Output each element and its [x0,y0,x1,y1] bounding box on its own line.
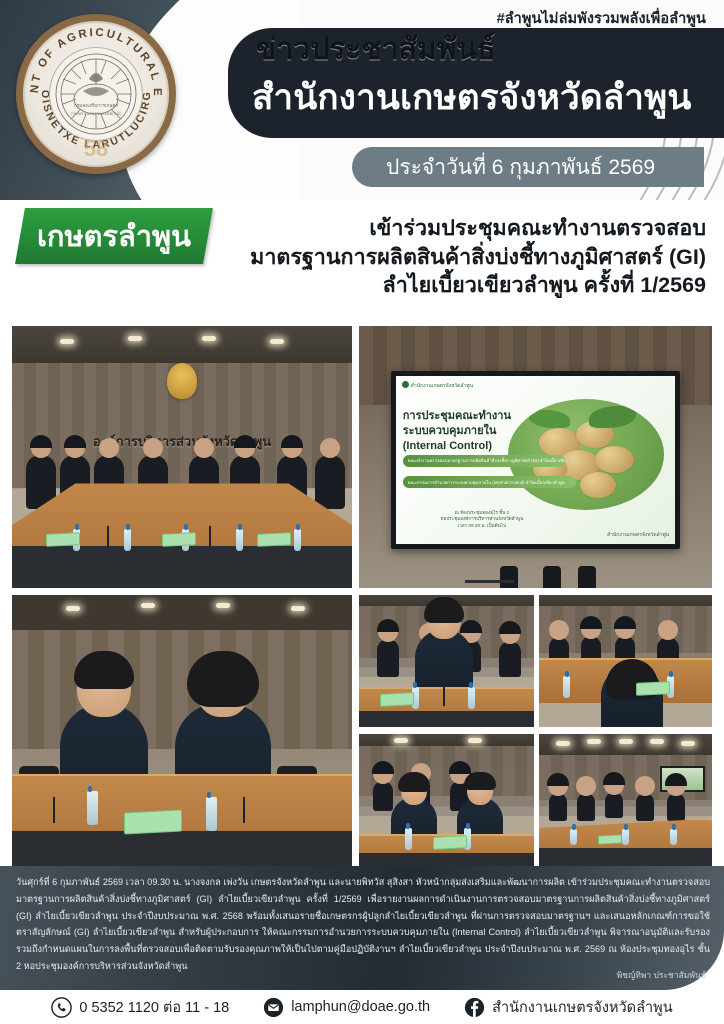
page-title: เข้าร่วมประชุมคณะทำงานตรวจสอบ มาตรฐานการ… [216,214,706,300]
photo-room-overview [539,734,712,866]
contact-email[interactable]: lamphun@doae.go.th [263,997,430,1018]
date-label: ประจำวันที่ 6 กุมภาพันธ์ 2569 [386,151,655,184]
contact-facebook[interactable]: สำนักงานเกษตรจังหวัดลำพูน [464,996,673,1019]
publisher-signature: พิชญ์ทิพา ประชาสัมพันธ์ [617,968,706,982]
contact-phone[interactable]: 0 5352 1120 ต่อ 11 - 18 [51,996,229,1019]
phone-icon [51,997,72,1018]
email-address: lamphun@doae.go.th [291,999,430,1015]
green-badge-kaset-lamphun: เกษตรลำพูน [15,208,213,264]
slide-title-line-1: การประชุมคณะทำงาน [403,409,511,424]
seal-inner-thai-text: กรมส่งเสริมการเกษตร [74,103,118,108]
headline-line-3: ลำไยเบี้ยวเขียวลำพูน ครั้งที่ 1/2569 [216,271,706,300]
phone-number: 0 5352 1120 ต่อ 11 - 18 [79,996,229,1019]
slide-footer-line-3: เวลา 09.30 น. เป็นต้นไป [440,523,523,530]
facebook-page-name: สำนักงานเกษตรจังหวัดลำพูน [492,996,673,1019]
photo-meeting-room-wide: องค์การบริหารส่วนจังหวัดลำพูน [12,326,352,588]
slide-logo-label: สำนักงานเกษตรจังหวัดลำพูน [402,381,473,390]
press-release-kicker: ข่าวประชาสัมพันธ์ [256,26,495,73]
photo-speaker-woman [359,595,534,727]
photo-attendees-seated [359,734,534,866]
agricultural-extension-seal-logo: DEPARTMENT OF AGRICULTURAL EXTENSION NOI… [16,14,176,174]
date-pill: ประจำวันที่ 6 กุมภาพันธ์ 2569 [352,147,704,187]
slide-bar-2: คณะกรรมการอำนวยการระบบควบคุมภายใน (Inter… [403,476,576,488]
header-banner: DEPARTMENT OF AGRICULTURAL EXTENSION NOI… [0,0,724,200]
projector-screen: สำนักงานเกษตรจังหวัดลำพูน การประชุมคณะทำ… [391,371,680,549]
body-text-panel: วันศุกร์ที่ 6 กุมภาพันธ์ 2569 เวลา 09.30… [0,866,724,990]
title-section: เกษตรลำพูน เข้าร่วมประชุมคณะทำงานตรวจสอบ… [0,200,724,325]
presentation-slide: สำนักงานเกษตรจังหวัดลำพูน การประชุมคณะทำ… [396,376,675,544]
hashtag-slogan: #ลำพูนไม่ล่มพังรวมพลังเพื่อลำพูน [497,7,706,30]
slide-title-line-2: ระบบควบคุมภายใน [403,424,511,439]
headline-line-2: มาตรฐานการผลิตสินค้าสิ่งบ่งชี้ทางภูมิศาส… [216,243,706,272]
office-name-title: สำนักงานเกษตรจังหวัดลำพูน [252,70,692,125]
photo-gallery: องค์การบริหารส่วนจังหวัดลำพูน [12,326,712,866]
slide-bar-1: คณะทำงานตรวจสอบมาตรฐานการผลิตสินค้าสิ่งบ… [403,455,565,467]
seal-inner-emblem: กรมส่งเสริมการเกษตร กระทรวงเกษตรและสหกรณ… [49,47,143,141]
slide-footer-text: ณ ห้องประชุมทองอุไร ชั้น 2 หอประชุมองค์ก… [440,510,523,531]
facebook-icon [464,997,485,1018]
svg-text:กระทรวงเกษตรและสหกรณ์: กระทรวงเกษตรและสหกรณ์ [71,111,121,116]
photo-projector-slide: สำนักงานเกษตรจังหวัดลำพูน การประชุมคณะทำ… [359,326,712,588]
seal-anniversary-number: 58 [84,136,108,162]
news-body-paragraph: วันศุกร์ที่ 6 กุมภาพันธ์ 2569 เวลา 09.30… [16,874,710,975]
slide-signature: สำนักงานเกษตรจังหวัดลำพูน [607,531,669,539]
footer-contact-bar: 0 5352 1120 ต่อ 11 - 18 lamphun@doae.go.… [0,990,724,1024]
provincial-emblem-icon [167,363,197,399]
photo-panel-table [539,595,712,727]
photo-two-officers-portrait [12,595,352,866]
slide-title: การประชุมคณะทำงาน ระบบควบคุมภายใน (Inter… [403,409,511,454]
headline-line-1: เข้าร่วมประชุมคณะทำงานตรวจสอบ [216,214,706,243]
slide-title-line-3: (Internal Control) [403,439,511,454]
green-badge-label: เกษตรลำพูน [37,213,191,259]
email-icon [263,997,284,1018]
